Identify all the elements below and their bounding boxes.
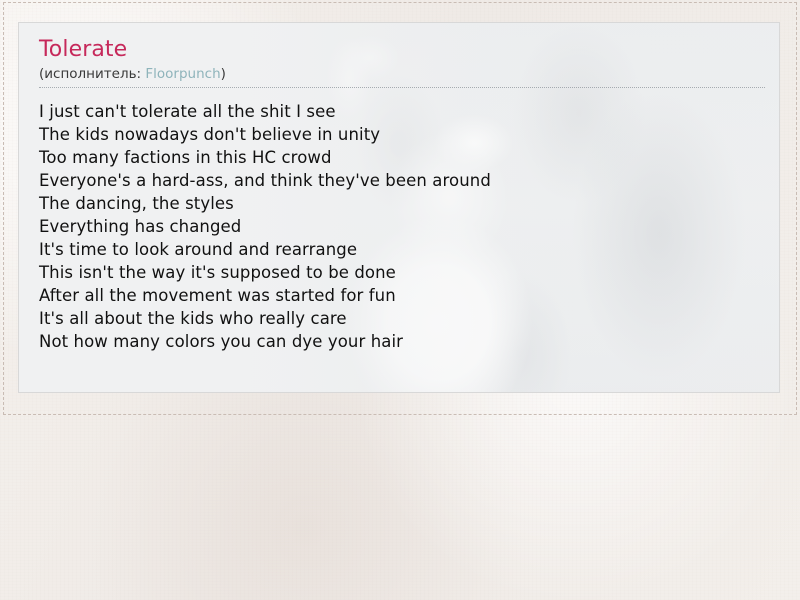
lyric-line: After all the movement was started for f…	[39, 284, 759, 307]
panel-content: Tolerate (исполнитель: Floorpunch) I jus…	[19, 23, 779, 353]
lyric-line: I just can't tolerate all the shit I see	[39, 100, 759, 123]
lyrics-list: I just can't tolerate all the shit I see…	[39, 100, 759, 353]
artist-label-suffix: )	[221, 66, 226, 82]
artist-label-prefix: (исполнитель:	[39, 66, 145, 82]
artist-subtitle: (исполнитель: Floorpunch)	[39, 66, 759, 82]
lyric-line: The dancing, the styles	[39, 192, 759, 215]
lyric-line: Everything has changed	[39, 215, 759, 238]
page-title: Tolerate	[39, 37, 759, 62]
lyric-line: The kids nowadays don't believe in unity	[39, 123, 759, 146]
lyric-line: It's all about the kids who really care	[39, 307, 759, 330]
lyric-line: It's time to look around and rearrange	[39, 238, 759, 261]
lyric-line: Too many factions in this HC crowd	[39, 146, 759, 169]
lyric-line: This isn't the way it's supposed to be d…	[39, 261, 759, 284]
lyric-line: Everyone's a hard-ass, and think they've…	[39, 169, 759, 192]
lyrics-panel: Tolerate (исполнитель: Floorpunch) I jus…	[18, 22, 780, 393]
artist-link[interactable]: Floorpunch	[145, 66, 220, 82]
lyric-line: Not how many colors you can dye your hai…	[39, 330, 759, 353]
header-divider	[39, 87, 765, 88]
